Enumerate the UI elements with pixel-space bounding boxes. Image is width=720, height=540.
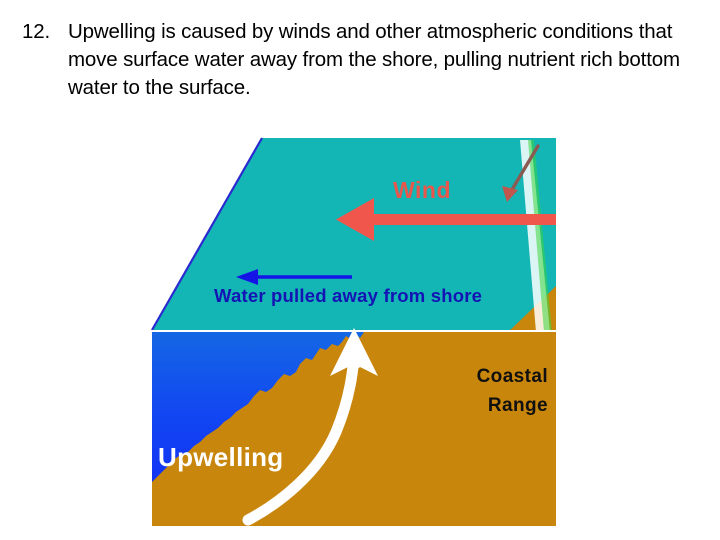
water-pulled-label: Water pulled away from shore xyxy=(214,285,482,306)
coastal-range-label-line1: Coastal xyxy=(477,366,548,387)
upwelling-label: Upwelling xyxy=(158,442,283,472)
wind-label: Wind xyxy=(393,177,451,203)
upwelling-diagram: Wind Water pulled away from shore Upwell… xyxy=(150,136,556,526)
slide-question-text: 12. Upwelling is caused by winds and oth… xyxy=(22,18,700,102)
coastal-range-label-line2: Range xyxy=(488,395,548,416)
question-body: Upwelling is caused by winds and other a… xyxy=(68,18,700,102)
question-number: 12. xyxy=(22,18,68,46)
